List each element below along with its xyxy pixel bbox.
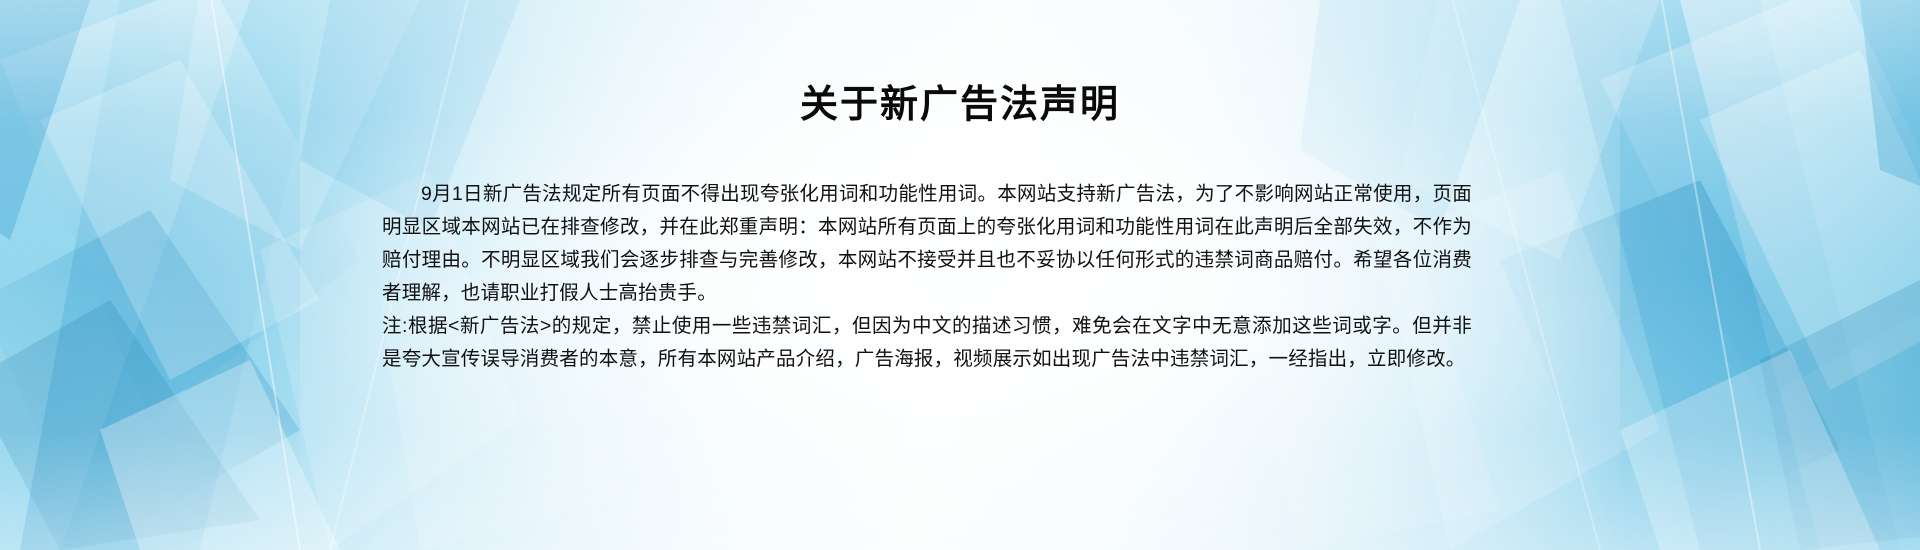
statement-body: 9月1日新广告法规定所有页面不得出现夸张化用词和功能性用词。本网站支持新广告法，… — [382, 178, 1472, 376]
page-title: 关于新广告法声明 — [0, 82, 1920, 130]
statement-content: 关于新广告法声明 9月1日新广告法规定所有页面不得出现夸张化用词和功能性用词。本… — [0, 0, 1920, 550]
advertising-law-statement-banner: 关于新广告法声明 9月1日新广告法规定所有页面不得出现夸张化用词和功能性用词。本… — [0, 0, 1920, 550]
statement-paragraph-1: 9月1日新广告法规定所有页面不得出现夸张化用词和功能性用词。本网站支持新广告法，… — [382, 178, 1472, 310]
statement-paragraph-2: 注:根据<新广告法>的规定，禁止使用一些违禁词汇，但因为中文的描述习惯，难免会在… — [382, 310, 1472, 376]
